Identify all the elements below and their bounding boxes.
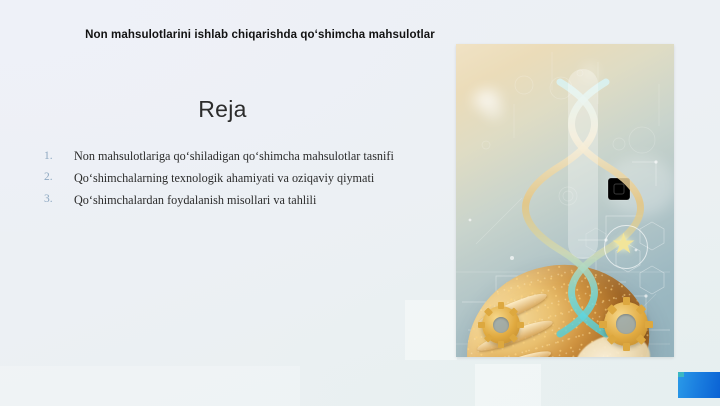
section-heading: Reja [60,96,385,123]
list-item: 3. Qo‘shimchalardan foydalanish misollar… [44,190,434,211]
decorative-block-bottom [0,366,300,406]
illustration-image: ★ [456,44,674,357]
list-item-number: 2. [44,168,74,188]
list-item: 1. Non mahsulotlariga qo‘shiladigan qo‘s… [44,146,434,167]
gear-left-icon [482,306,520,344]
decorative-block-center [475,364,541,406]
list-item-text: Qo‘shimchalardan foydalanish misollari v… [74,190,434,211]
slide-title: Non mahsulotlarini ishlab chiqarishda qo… [60,28,460,44]
list-item: 2. Qo‘shimchalarning texnologik ahamiyat… [44,168,434,189]
list-item-text: Qo‘shimchalarning texnologik ahamiyati v… [74,168,434,189]
list-item-text: Non mahsulotlariga qo‘shiladigan qo‘shim… [74,146,434,167]
list-item-number: 3. [44,190,74,210]
list-item-number: 1. [44,146,74,166]
star-icon: ★ [611,230,636,258]
accent-notch [678,372,684,377]
decorative-block-left [405,300,457,360]
plan-list: 1. Non mahsulotlariga qo‘shiladigan qo‘s… [44,146,434,212]
slide-canvas: Non mahsulotlarini ishlab chiqarishda qo… [0,0,720,406]
gear-right-icon [604,302,648,346]
accent-bar [678,372,720,398]
